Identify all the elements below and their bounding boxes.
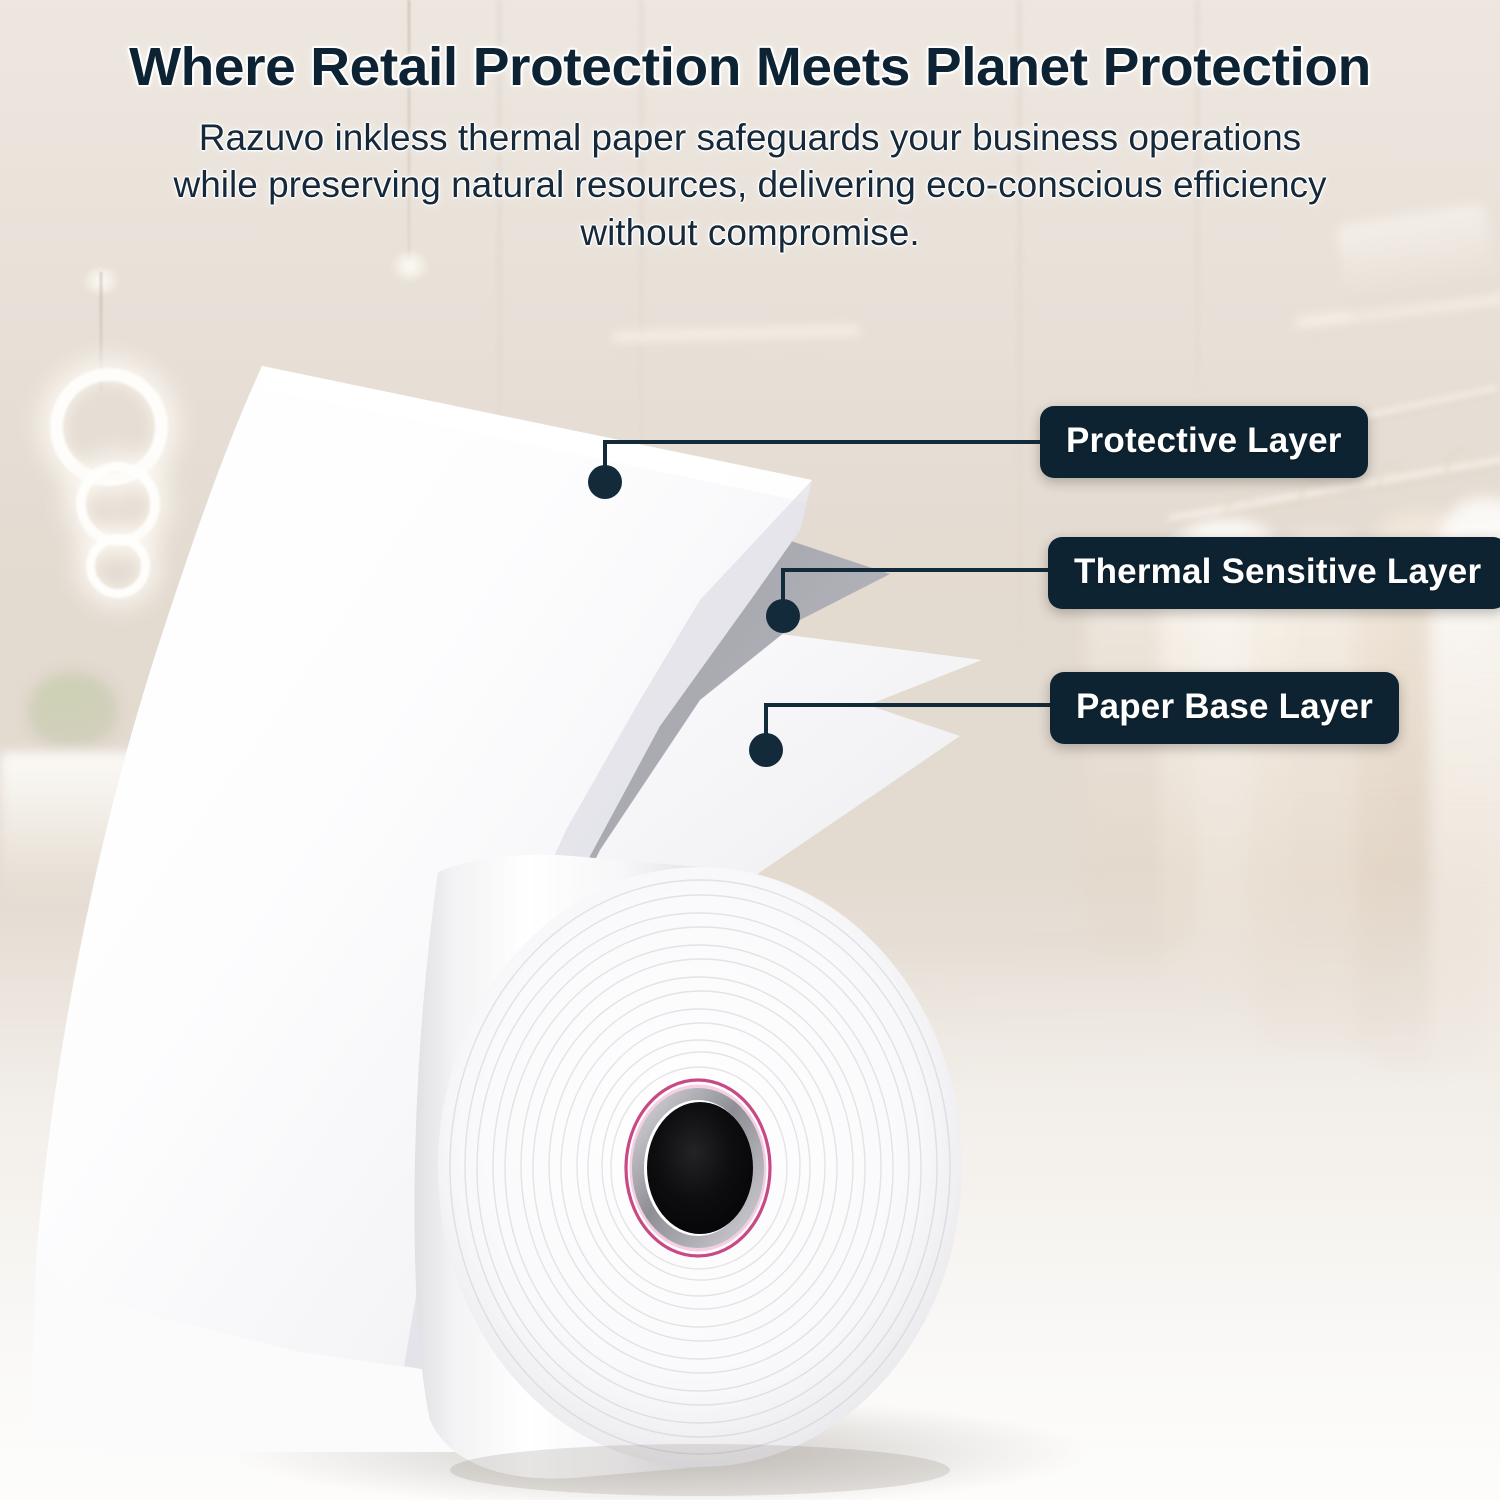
callout-label-thermal-sensitive-layer[interactable]: Thermal Sensitive Layer [1048, 537, 1500, 609]
roll-contact-shadow [450, 1444, 950, 1496]
roll-core-hole [647, 1102, 753, 1234]
callout-label-protective-layer[interactable]: Protective Layer [1040, 406, 1368, 478]
header-block: Where Retail Protection Meets Planet Pro… [0, 0, 1500, 256]
page-title: Where Retail Protection Meets Planet Pro… [0, 0, 1500, 94]
page-subtitle: Razuvo inkless thermal paper safeguards … [165, 114, 1335, 256]
callout-label-paper-base-layer[interactable]: Paper Base Layer [1050, 672, 1399, 744]
infographic-canvas: Where Retail Protection Meets Planet Pro… [0, 0, 1500, 1500]
